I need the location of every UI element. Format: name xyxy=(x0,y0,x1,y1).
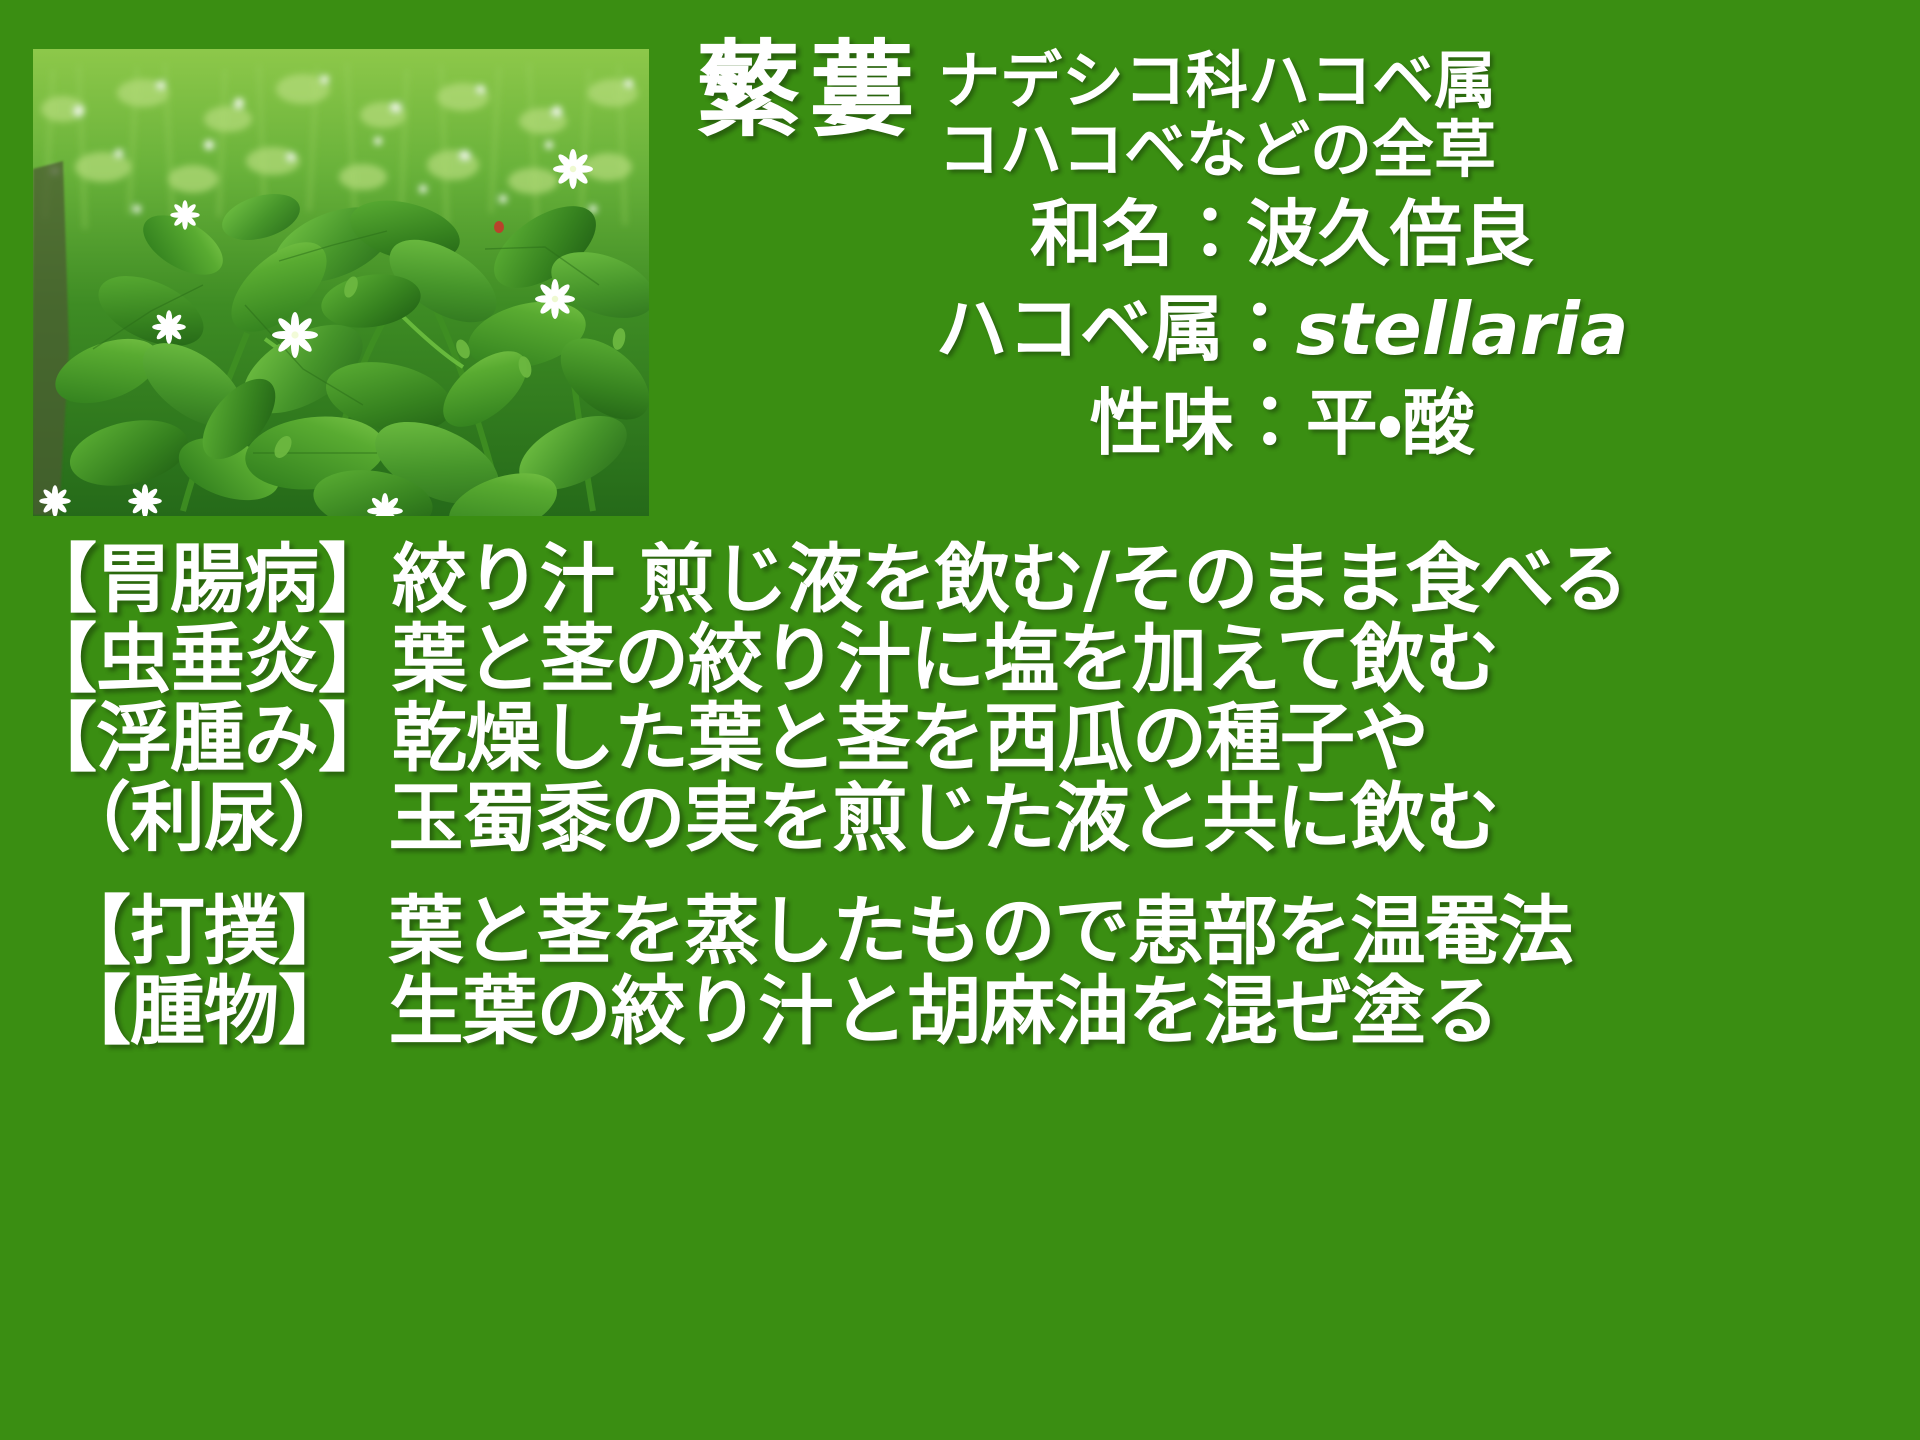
plant-photo-illustration xyxy=(33,49,649,516)
page-title: 蘩蔞 xyxy=(696,28,924,142)
japanese-name-line: 和名：波久倍良 xyxy=(660,189,1904,280)
remedy-line-gastrointestinal: 【胃腸病】絞り汁 煎じ液を飲む/そのまま食べる xyxy=(0,540,1920,620)
taxon-family-genus: ナデシコ科ハコベ属 xyxy=(938,46,1496,115)
remedy-line-swelling: 【腫物】 生葉の絞り汁と胡麻油を混ぜ塗る xyxy=(0,972,1920,1052)
slide-root: 蘩蔞 ナデシコ科ハコベ属 コハコベなどの全草 和名：波久倍良 ハコベ属：stel… xyxy=(0,0,1920,1440)
taxon-part-used: コハコベなどの全草 xyxy=(938,115,1496,184)
japanese-name-value: 波久倍良 xyxy=(1246,192,1534,276)
header-block: 蘩蔞 ナデシコ科ハコベ属 コハコベなどの全草 和名：波久倍良 ハコベ属：stel… xyxy=(660,28,1912,469)
japanese-name-label: 和名： xyxy=(1030,192,1246,276)
nature-taste-line: 性味：平・酸 xyxy=(660,378,1904,469)
remedy-line-edema: 【浮腫み】乾燥した葉と茎を西瓜の種子や xyxy=(0,699,1920,779)
genus-scientific-name: stellaria xyxy=(1296,287,1629,371)
meta-block: 和名：波久倍良 ハコベ属：stellaria 性味：平・酸 xyxy=(660,189,1912,469)
chickweed-plant-photo xyxy=(33,49,649,516)
remedy-line-bruise: 【打撲】 葉と茎を蒸したもので患部を温罨法 xyxy=(0,892,1920,972)
remedy-line-diuretic: （利尿） 玉蜀黍の実を煎じた液と共に飲む xyxy=(0,779,1920,859)
title-row: 蘩蔞 ナデシコ科ハコベ属 コハコベなどの全草 xyxy=(660,28,1912,185)
genus-line: ハコベ属：stellaria xyxy=(660,284,1904,375)
taxonomy-block: ナデシコ科ハコベ属 コハコベなどの全草 xyxy=(938,28,1496,185)
remedy-line-appendicitis: 【虫垂炎】葉と茎の絞り汁に塩を加えて飲む xyxy=(0,620,1920,700)
ladybug xyxy=(494,221,504,233)
genus-label: ハコベ属： xyxy=(936,287,1296,371)
remedy-list: 【胃腸病】絞り汁 煎じ液を飲む/そのまま食べる 【虫垂炎】葉と茎の絞り汁に塩を加… xyxy=(0,540,1920,1051)
